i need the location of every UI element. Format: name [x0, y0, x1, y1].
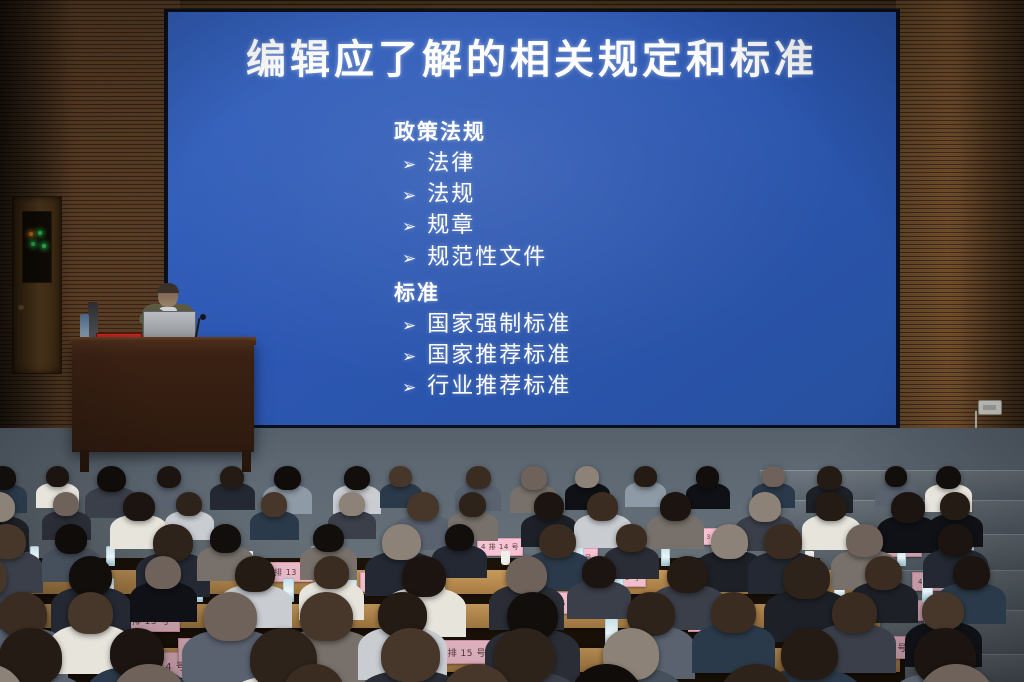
slide-bullet-item: ➢ 法律: [394, 148, 571, 179]
paper-cup: [501, 551, 510, 565]
bullet-text: 规范性文件: [427, 242, 547, 273]
water-bottle: [661, 546, 670, 566]
audience-person-head: [381, 628, 440, 682]
audience-person-head: [667, 556, 708, 593]
audience-person-head: [817, 466, 843, 490]
audience-person-head: [123, 492, 154, 521]
audience-person-head: [846, 524, 882, 557]
projection-screen[interactable]: 编辑应了解的相关规定和标准 政策法规 ➢ 法律 ➢ 法规 ➢ 规章 ➢: [168, 12, 896, 425]
bullet-arrow-icon: ➢: [402, 349, 418, 366]
audience-person-head: [157, 466, 181, 488]
audience-person-head: [936, 466, 961, 489]
audience-person-head: [575, 466, 599, 488]
audience-person-head: [145, 556, 181, 589]
audience-person-head: [938, 524, 973, 557]
audience-person-head: [300, 592, 353, 641]
audience-person-head: [261, 492, 288, 517]
audience-person-head: [382, 524, 421, 560]
audience-person-head: [711, 524, 749, 559]
audience-person-head: [313, 524, 344, 552]
audience-person-head: [402, 556, 446, 597]
audience-person-head: [389, 466, 412, 487]
slide-title: 编辑应了解的相关规定和标准: [168, 38, 896, 82]
slide-bullet-item: ➢ 规范性文件: [394, 242, 571, 273]
audience-person-head: [781, 628, 838, 680]
presenter-hair: [157, 283, 179, 293]
audience-person-head: [587, 492, 618, 521]
audience-person-head: [220, 466, 244, 488]
audience-person-head: [506, 556, 547, 594]
audience-person-head: [407, 492, 439, 521]
audience-person-head: [616, 524, 646, 552]
audience-person-head: [711, 592, 756, 633]
audience-person-head: [762, 466, 785, 487]
bullet-arrow-icon: ➢: [402, 157, 418, 174]
bullet-text: 行业推荐标准: [427, 371, 571, 402]
bullet-text: 法规: [427, 179, 475, 210]
podium-desk: [72, 340, 254, 452]
right-wall-shadow: [960, 0, 1024, 450]
audience-person-head: [534, 492, 564, 520]
audience-person-head: [69, 556, 113, 596]
audience-person-head: [344, 466, 370, 490]
audience-person-head: [891, 492, 924, 523]
audience-person-head: [922, 592, 963, 630]
slide-bullet-item: ➢ 国家推荐标准: [394, 340, 571, 371]
audience-person-head: [539, 524, 576, 558]
audience-person-head: [815, 492, 847, 521]
slide-section-heading-standards: 标准: [394, 277, 571, 307]
audience-person-head: [68, 592, 113, 634]
bullet-arrow-icon: ➢: [402, 318, 418, 335]
audience-person-head: [832, 592, 877, 633]
audience-person-head: [764, 524, 802, 559]
audience-person-head: [97, 466, 126, 492]
audience-seating: [0, 452, 1024, 682]
slide-bullet-item: ➢ 规章: [394, 210, 571, 241]
audience-person-head: [55, 524, 87, 554]
slide-bullet-item: ➢ 国家强制标准: [394, 309, 571, 340]
bullet-arrow-icon: ➢: [402, 251, 418, 268]
audience-person-head: [749, 492, 782, 522]
audience-person-head: [46, 466, 69, 487]
audience-person-head: [176, 492, 202, 516]
audience-person-head: [204, 592, 257, 641]
audience-person-head: [865, 556, 902, 590]
slide-bullet-list-standards: ➢ 国家强制标准 ➢ 国家推荐标准 ➢ 行业推荐标准: [394, 309, 571, 403]
audience-person-head: [339, 492, 365, 516]
audience-person-head: [940, 492, 970, 520]
audience-person-head: [274, 466, 300, 490]
audience-person-head: [235, 556, 275, 592]
audience-person-head: [0, 466, 16, 490]
audience-person-head: [953, 556, 990, 590]
audience-person-head: [210, 524, 241, 553]
audience-person-head: [885, 466, 907, 487]
audience-person-head: [521, 466, 547, 490]
slide-section-heading-policy: 政策法规: [394, 116, 571, 146]
audience-person-head: [634, 466, 657, 487]
slide-body: 政策法规 ➢ 法律 ➢ 法规 ➢ 规章 ➢ 规范性文件: [394, 116, 571, 407]
bullet-text: 规章: [427, 210, 475, 241]
bullet-arrow-icon: ➢: [402, 188, 418, 205]
audience-person-head: [314, 556, 349, 589]
audience-person-head: [696, 466, 720, 488]
bullet-text: 国家强制标准: [427, 309, 571, 340]
microphone-head: [200, 314, 206, 320]
left-wall-shadow: [0, 0, 70, 470]
slide-bullet-list-policy: ➢ 法律 ➢ 法规 ➢ 规章 ➢ 规范性文件: [394, 148, 571, 273]
auditorium-scene: 编辑应了解的相关规定和标准 政策法规 ➢ 法律 ➢ 法规 ➢ 规章 ➢: [0, 0, 1024, 682]
audience-person-head: [445, 524, 475, 551]
audience-person-head: [660, 492, 691, 521]
audience-person-head: [466, 466, 491, 489]
audience-person-head: [53, 492, 79, 516]
bullet-arrow-icon: ➢: [402, 219, 418, 236]
audience-person-head: [783, 556, 830, 599]
slide-bullet-item: ➢ 行业推荐标准: [394, 371, 571, 402]
bullet-arrow-icon: ➢: [402, 380, 418, 397]
audience-person-head: [582, 556, 616, 588]
bullet-text: 法律: [427, 148, 475, 179]
slide-bullet-item: ➢ 法规: [394, 179, 571, 210]
audience-person-head: [459, 492, 486, 517]
bullet-text: 国家推荐标准: [427, 340, 571, 371]
